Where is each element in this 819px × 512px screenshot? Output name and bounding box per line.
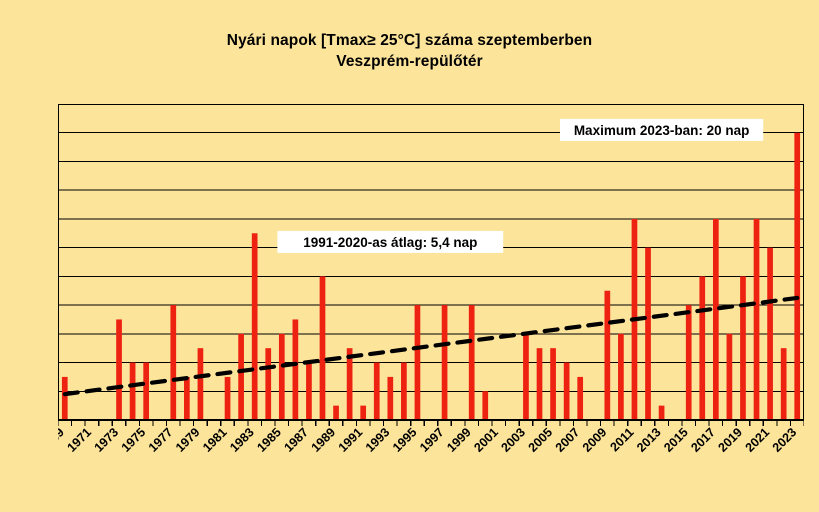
x-axis-tick-label: 2001	[471, 425, 501, 455]
x-axis-tick-label: 1983	[227, 425, 257, 455]
bar	[347, 348, 353, 420]
bar	[713, 219, 719, 420]
x-axis-tick-label: 1993	[363, 425, 393, 455]
x-axis-tick-label: 1991	[336, 425, 366, 455]
bar	[360, 406, 366, 420]
x-axis-tick-label: 2017	[688, 425, 718, 455]
gridlines-group	[58, 133, 804, 392]
x-axis-tick-label: 1969	[58, 425, 67, 455]
x-axis-tick-label: 1979	[173, 425, 203, 455]
chart-svg: 0246810121416182022 19691971197319751977…	[58, 104, 804, 504]
bar	[469, 305, 475, 420]
annotation-label: 1991-2020-as átlag: 5,4 nap	[303, 235, 477, 250]
x-axis-tick-label: 2019	[716, 425, 746, 455]
bar	[387, 377, 393, 420]
bar	[442, 305, 448, 420]
bar	[645, 248, 651, 420]
bar	[401, 363, 407, 420]
x-axis-tick-label: 1989	[309, 425, 339, 455]
x-axis-tick-label: 2007	[553, 425, 583, 455]
bar	[727, 334, 733, 420]
bar	[225, 377, 231, 420]
bar	[415, 305, 421, 420]
x-axis-tick-label: 2023	[770, 425, 800, 455]
chart-container: Nyári napok [Tmax≥ 25°C] száma szeptembe…	[0, 0, 819, 512]
annotations-group: Maximum 2023-ban: 20 nap1991-2020-as átl…	[277, 119, 763, 253]
bar	[238, 334, 244, 420]
bar	[482, 391, 488, 420]
bar	[537, 348, 543, 420]
bar	[265, 348, 271, 420]
x-axis-tick-label: 1973	[92, 425, 122, 455]
plot-frame	[58, 104, 804, 420]
bar	[523, 334, 529, 420]
x-axis-tick-label: 1977	[146, 425, 176, 455]
bar	[577, 377, 583, 420]
bar	[604, 291, 610, 420]
bar	[333, 406, 339, 420]
x-axis-tick-label: 2005	[526, 425, 556, 455]
x-axis-tick-label: 1995	[390, 425, 420, 455]
bar	[198, 348, 204, 420]
x-axis-tick-label: 1971	[64, 425, 94, 455]
bar	[170, 305, 176, 420]
x-axis-tick-label: 2013	[634, 425, 664, 455]
x-axis-tick-label: 1981	[200, 425, 230, 455]
bar	[659, 406, 665, 420]
x-axis-tick-label: 1997	[417, 425, 447, 455]
bar	[320, 276, 326, 420]
bar	[306, 363, 312, 420]
bar	[252, 233, 258, 420]
bar	[293, 319, 299, 420]
bar	[550, 348, 556, 420]
bar	[740, 276, 746, 420]
bar	[794, 133, 800, 420]
bar	[184, 377, 190, 420]
x-axis-tick-label: 2015	[661, 425, 691, 455]
bar	[279, 334, 285, 420]
chart-title-line1: Nyári napok [Tmax≥ 25°C] száma szeptembe…	[227, 32, 592, 49]
bar	[62, 377, 68, 420]
x-axis-tick-label: 2003	[499, 425, 529, 455]
bar	[781, 348, 787, 420]
x-axis-ticks-group: 1969197119731975197719791981198319851987…	[58, 420, 804, 455]
x-axis-tick-label: 1999	[444, 425, 474, 455]
x-axis-tick-label: 1987	[281, 425, 311, 455]
chart-title-line2: Veszprém-repülőtér	[0, 51, 819, 72]
annotation-label: Maximum 2023-ban: 20 nap	[574, 123, 750, 138]
bar	[374, 363, 380, 420]
bar	[767, 248, 773, 420]
bar	[130, 363, 136, 420]
bar	[564, 363, 570, 420]
x-axis-tick-label: 1975	[119, 425, 149, 455]
x-axis-tick-label: 2011	[607, 425, 636, 454]
bar	[699, 276, 705, 420]
chart-title: Nyári napok [Tmax≥ 25°C] száma szeptembe…	[0, 30, 819, 72]
bar	[618, 334, 624, 420]
x-axis-tick-label: 2021	[743, 425, 773, 455]
bar	[143, 363, 149, 420]
bar	[116, 319, 122, 420]
x-axis-tick-label: 1985	[254, 425, 284, 455]
x-axis-tick-label: 2009	[580, 425, 610, 455]
bar	[686, 305, 692, 420]
bar	[754, 219, 760, 420]
plot-area: 0246810121416182022 19691971197319751977…	[58, 104, 804, 420]
